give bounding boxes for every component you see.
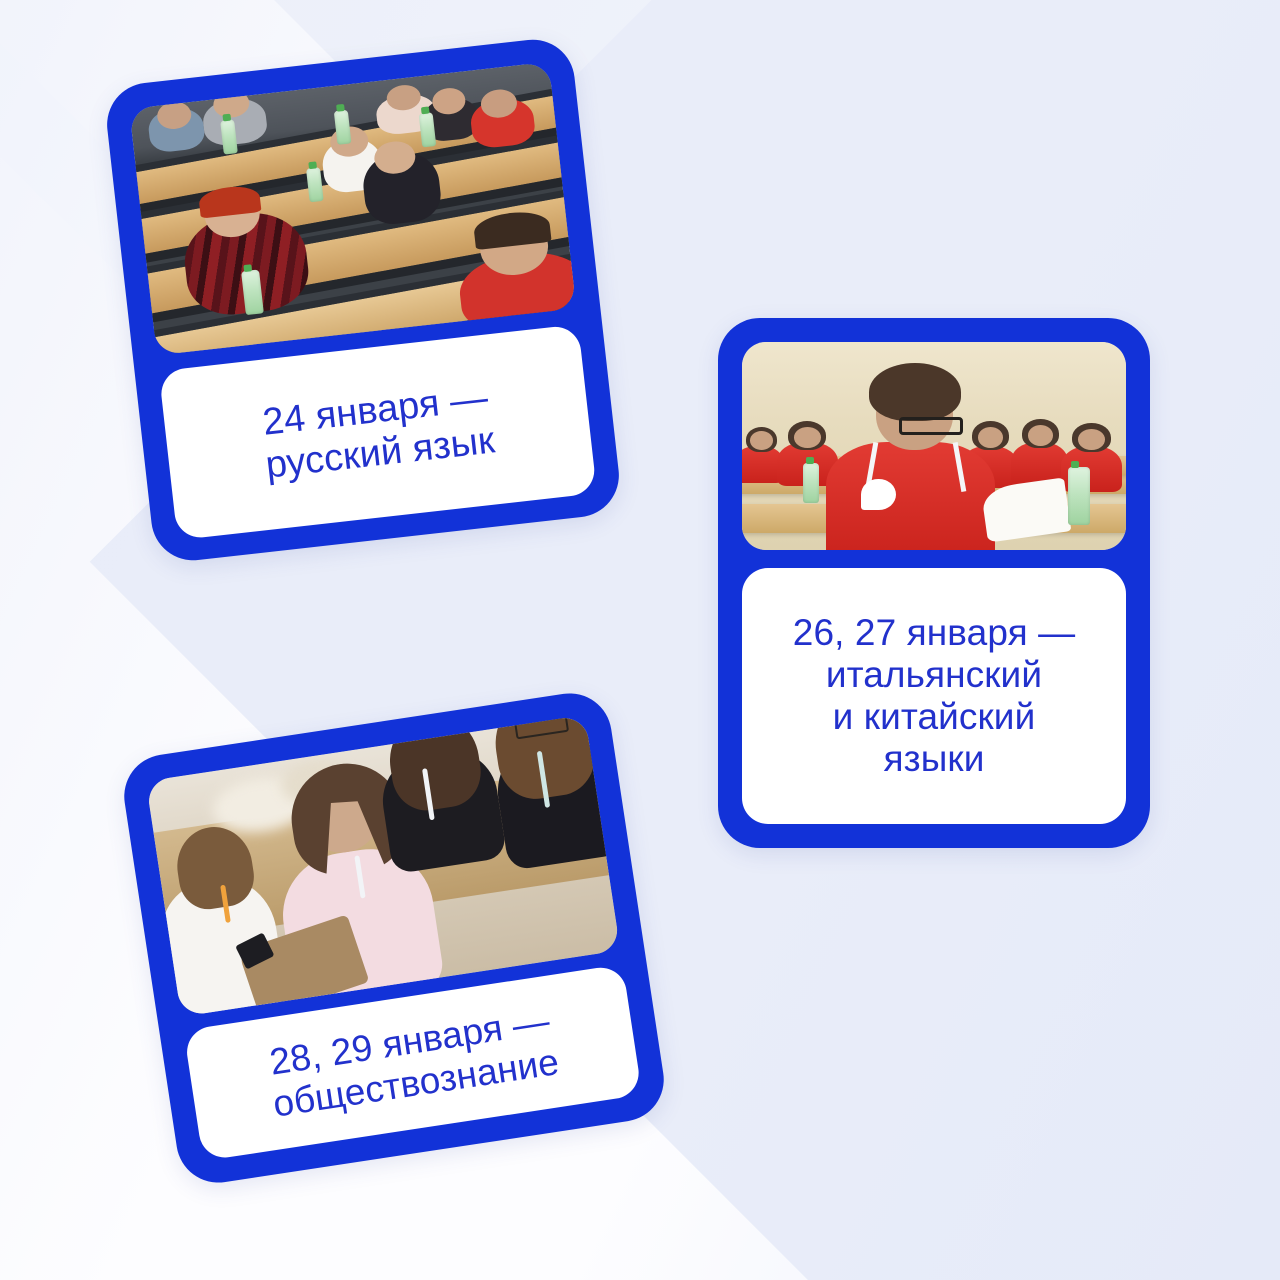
lecture-hall-scene <box>129 62 576 355</box>
participant-head <box>978 427 1003 448</box>
schedule-card-social-studies[interactable]: 28, 29 января — обществознание <box>118 688 669 1189</box>
card-caption-text: 28, 29 января — обществознание <box>264 1000 562 1126</box>
students-group-photo <box>146 715 621 1017</box>
participant-head <box>1078 429 1105 450</box>
main-participant-figure <box>826 442 995 550</box>
water-bottle <box>333 109 351 144</box>
logo-badge <box>861 479 896 510</box>
students-group-scene <box>146 715 621 1017</box>
water-bottle <box>1068 467 1090 525</box>
schedule-card-languages[interactable]: 26, 27 января — итальянский и китайский … <box>718 318 1150 848</box>
card-caption-panel: 24 января — русский язык <box>159 324 597 540</box>
main-participant-hair <box>869 363 961 421</box>
lecture-hall-photo <box>129 62 576 355</box>
water-bottle <box>803 463 819 503</box>
card-caption-text: 26, 27 января — итальянский и китайский … <box>793 612 1075 779</box>
exam-room-scene <box>742 342 1126 550</box>
exam-room-photo <box>742 342 1126 550</box>
participant-head <box>750 431 773 450</box>
poster-canvas: 24 января — русский язык <box>0 0 1280 1280</box>
participant-head <box>794 427 821 448</box>
card-caption-panel: 26, 27 января — итальянский и китайский … <box>742 568 1126 824</box>
glasses-icon <box>899 417 963 435</box>
card-caption-text: 24 января — русский язык <box>259 377 497 488</box>
schedule-card-russian[interactable]: 24 января — русский язык <box>103 35 624 564</box>
participant-head <box>1028 425 1053 446</box>
